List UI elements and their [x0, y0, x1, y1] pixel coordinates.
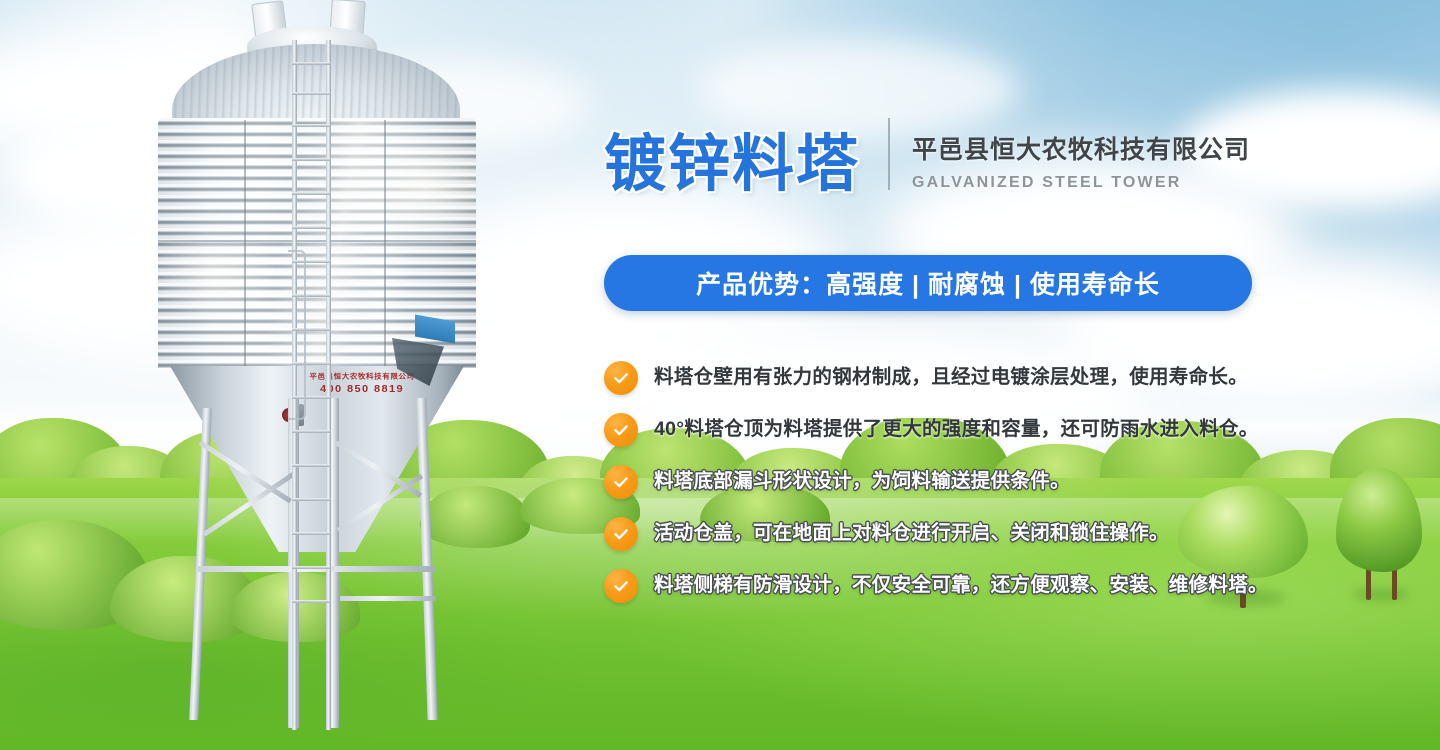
silo-ladder-rung	[292, 192, 330, 195]
silo-ladder-rung	[292, 498, 330, 501]
silo-vertical-seam	[384, 120, 386, 368]
silo-ladder-rung	[292, 226, 330, 229]
silo-product-image: 平邑县恒大农牧科技有限公司 400 850 8819	[92, 0, 522, 750]
silo-ladder-rung	[292, 464, 330, 467]
silo-cone-phone-text: 400 850 8819	[297, 384, 427, 395]
feature-text: 料塔仓壁用有张力的钢材制成，且经过电镀涂层处理，使用寿命长。	[654, 366, 1248, 389]
feature-text: 活动仓盖，可在地面上对料仓进行开启、关闭和锁住操作。	[654, 522, 1169, 545]
list-item: 40°料塔仓顶为料塔提供了更大的强度和容量，还可防雨水进入料仓。	[604, 404, 1304, 456]
silo-horizontal-brace	[340, 596, 436, 601]
silo-ladder-rung	[292, 532, 330, 535]
feature-text: 料塔底部漏斗形状设计，为饲料输送提供条件。	[654, 470, 1070, 493]
silo-ladder-rung	[292, 124, 330, 127]
check-circle-icon	[604, 361, 638, 395]
title-subtitle-block: 平邑县恒大农牧科技有限公司 GALVANIZED STEEL TOWER	[912, 135, 1250, 196]
feature-text: 40°料塔仓顶为料塔提供了更大的强度和容量，还可防雨水进入料仓。	[654, 418, 1259, 441]
check-circle-icon	[604, 413, 638, 447]
feature-text: 料塔侧梯有防滑设计，不仅安全可靠，还方便观察、安装、维修料塔。	[654, 574, 1268, 597]
text-panel: 镀锌料塔 平邑县恒大农牧科技有限公司 GALVANIZED STEEL TOWE…	[604, 0, 1304, 750]
feature-list: 料塔仓壁用有张力的钢材制成，且经过电镀涂层处理，使用寿命长。 40°料塔仓顶为料…	[604, 352, 1304, 612]
list-item: 活动仓盖，可在地面上对料仓进行开启、关闭和锁住操作。	[604, 508, 1304, 560]
silo-vertical-seam	[244, 120, 246, 368]
check-circle-icon	[604, 569, 638, 603]
company-name-en: GALVANIZED STEEL TOWER	[912, 174, 1250, 192]
list-item: 料塔侧梯有防滑设计，不仅安全可靠，还方便观察、安装、维修料塔。	[604, 560, 1304, 612]
silo-ladder-rung	[292, 566, 330, 569]
silo-ladder-cage	[288, 250, 306, 420]
silo-leg	[416, 398, 437, 720]
list-item: 料塔仓壁用有张力的钢材制成，且经过电镀涂层处理，使用寿命长。	[604, 352, 1304, 404]
banner-stage: 平邑县恒大农牧科技有限公司 400 850 8819	[0, 0, 1440, 750]
title-divider	[888, 118, 890, 190]
company-name-cn: 平邑县恒大农牧科技有限公司	[912, 135, 1250, 166]
check-circle-icon	[604, 517, 638, 551]
silo-ladder-rung	[292, 600, 330, 603]
silo-leg	[189, 408, 212, 720]
silo-band-seam	[158, 240, 476, 242]
check-circle-icon	[604, 465, 638, 499]
silo-ladder-rung	[292, 62, 330, 65]
silo-ladder-rung	[292, 92, 330, 95]
list-item: 料塔底部漏斗形状设计，为饲料输送提供条件。	[604, 456, 1304, 508]
silo-cone-branding: 平邑县恒大农牧科技有限公司 400 850 8819	[297, 371, 427, 395]
tree	[1330, 468, 1426, 604]
page-title: 镀锌料塔	[604, 134, 860, 196]
silo-ladder-rung	[292, 158, 330, 161]
product-advantage-pill[interactable]: 产品优势：高强度 | 耐腐蚀 | 使用寿命长	[604, 255, 1252, 311]
silo-ladder-rung	[292, 430, 330, 433]
title-row: 镀锌料塔 平邑县恒大农牧科技有限公司 GALVANIZED STEEL TOWE…	[604, 118, 1250, 196]
silo-ladder-rail	[326, 40, 331, 730]
